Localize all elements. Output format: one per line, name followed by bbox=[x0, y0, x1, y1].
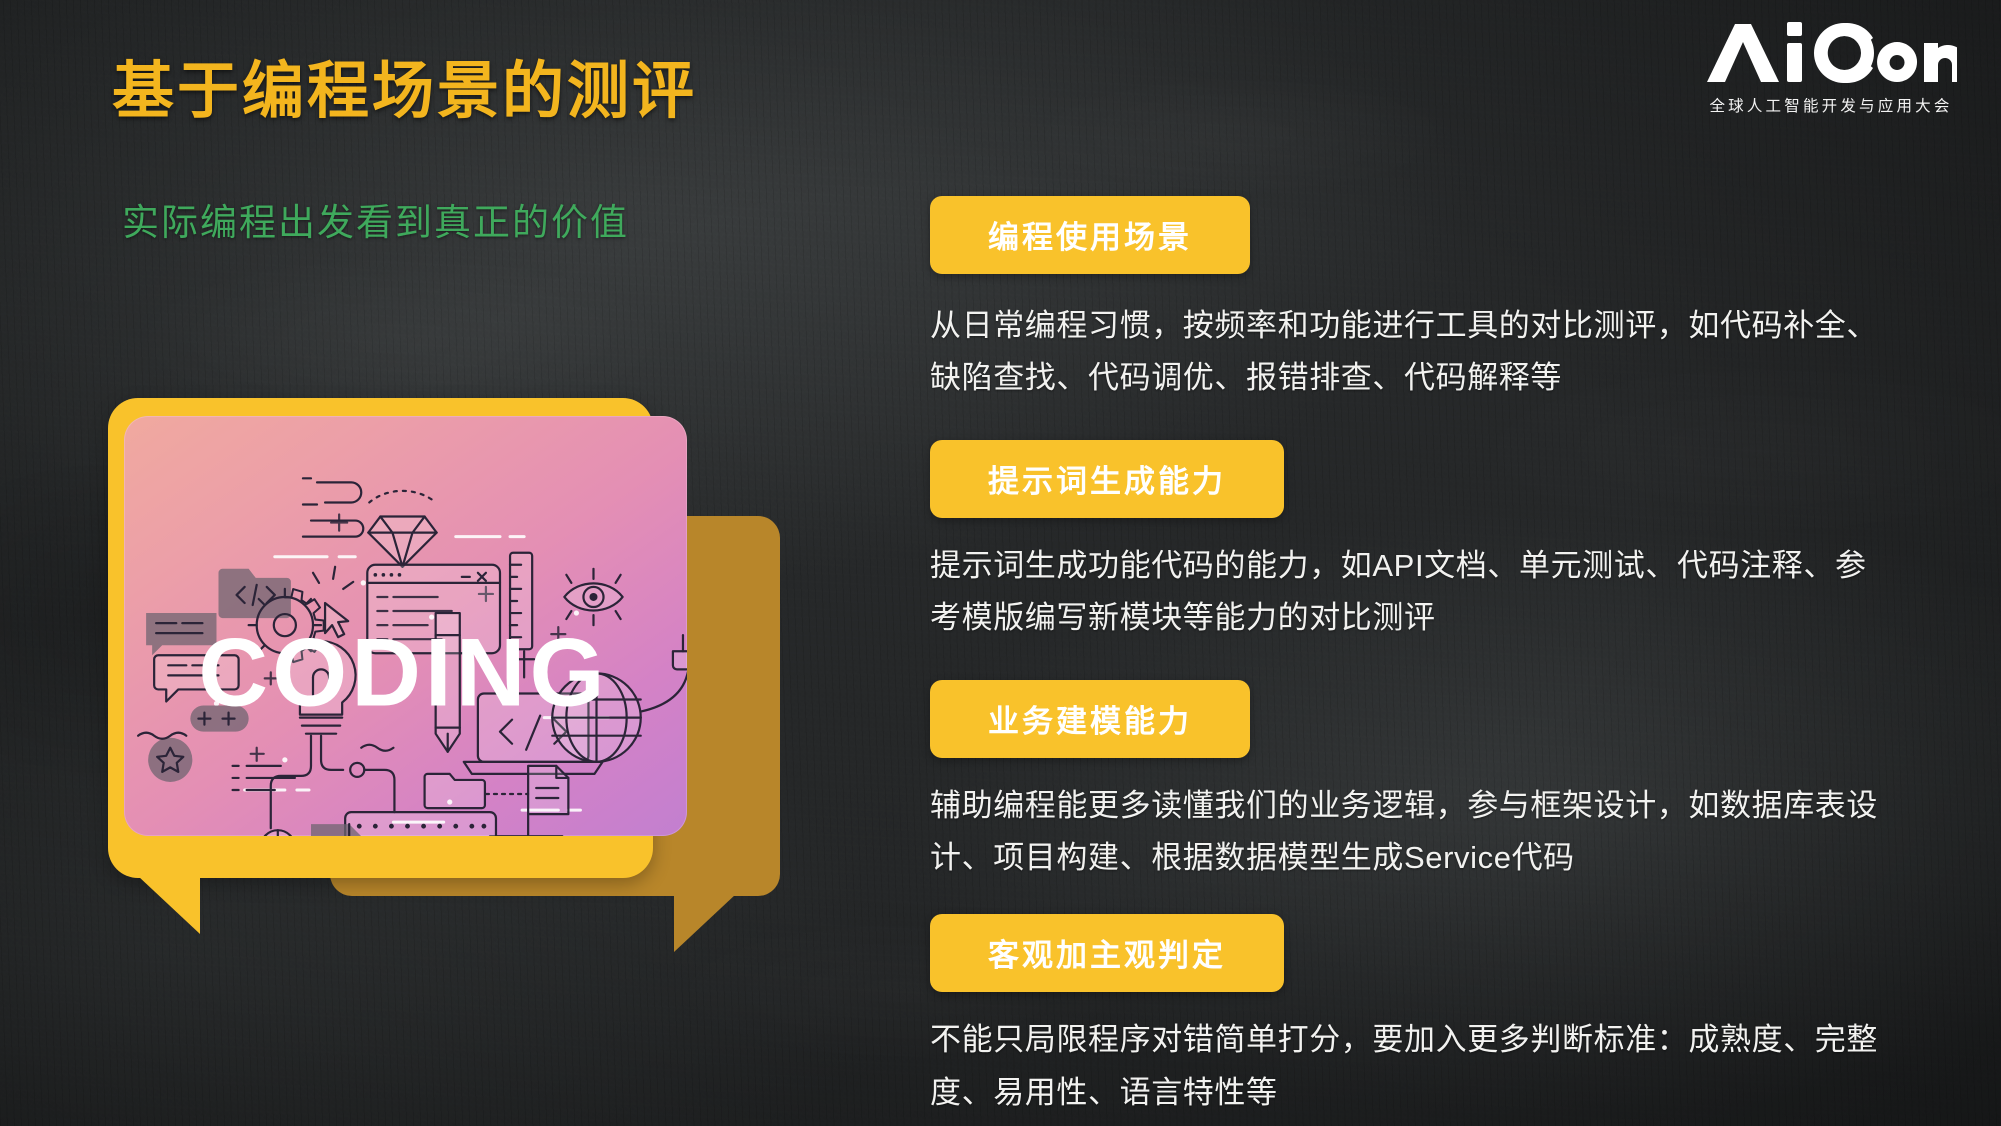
content-column: 编程使用场景 从日常编程习惯，按频率和功能进行工具的对比测评，如代码补全、缺陷查… bbox=[930, 196, 1930, 1126]
section-business-modeling: 业务建模能力 辅助编程能更多读懂我们的业务逻辑，参与框架设计，如数据库表设计、项… bbox=[930, 680, 1930, 884]
aicon-logo: 全球人工智能开发与应用大会 bbox=[1705, 22, 1957, 116]
coding-wordmark-text: CODING bbox=[198, 620, 608, 727]
section-body: 提示词生成功能代码的能力，如API文档、单元测试、代码注释、参考模版编写新模块等… bbox=[930, 540, 1890, 644]
page-title: 基于编程场景的测评 bbox=[112, 58, 697, 126]
section-prompt-generation: 提示词生成能力 提示词生成功能代码的能力，如API文档、单元测试、代码注释、参考… bbox=[930, 440, 1930, 644]
aicon-wordmark-icon bbox=[1705, 22, 1957, 89]
section-objective-subjective: 客观加主观判定 不能只局限程序对错简单打分，要加入更多判断标准：成熟度、完整度、… bbox=[930, 914, 1930, 1118]
section-badge: 提示词生成能力 bbox=[930, 440, 1284, 518]
section-badge: 编程使用场景 bbox=[930, 196, 1250, 274]
section-body: 从日常编程习惯，按频率和功能进行工具的对比测评，如代码补全、缺陷查找、代码调优、… bbox=[930, 300, 1890, 404]
page-subtitle: 实际编程出发看到真正的价值 bbox=[122, 192, 629, 246]
coding-illustration-card: .ln{stroke:#2b2438;stroke-width:2.2;fill… bbox=[124, 416, 687, 836]
section-coding-usage: 编程使用场景 从日常编程习惯，按频率和功能进行工具的对比测评，如代码补全、缺陷查… bbox=[930, 196, 1930, 404]
aicon-logo-tagline: 全球人工智能开发与应用大会 bbox=[1705, 94, 1957, 116]
slide-root: 基于编程场景的测评 实际编程出发看到真正的价值 bbox=[0, 0, 2001, 1126]
section-body: 辅助编程能更多读懂我们的业务逻辑，参与框架设计，如数据库表设计、项目构建、根据数… bbox=[930, 780, 1890, 884]
section-badge: 客观加主观判定 bbox=[930, 914, 1284, 992]
section-body: 不能只局限程序对错简单打分，要加入更多判断标准：成熟度、完整度、易用性、语言特性… bbox=[930, 1014, 1890, 1118]
section-badge: 业务建模能力 bbox=[930, 680, 1250, 758]
illustration-bubbles: .ln{stroke:#2b2438;stroke-width:2.2;fill… bbox=[108, 398, 848, 1028]
front-speech-bubble: .ln{stroke:#2b2438;stroke-width:2.2;fill… bbox=[108, 398, 653, 878]
